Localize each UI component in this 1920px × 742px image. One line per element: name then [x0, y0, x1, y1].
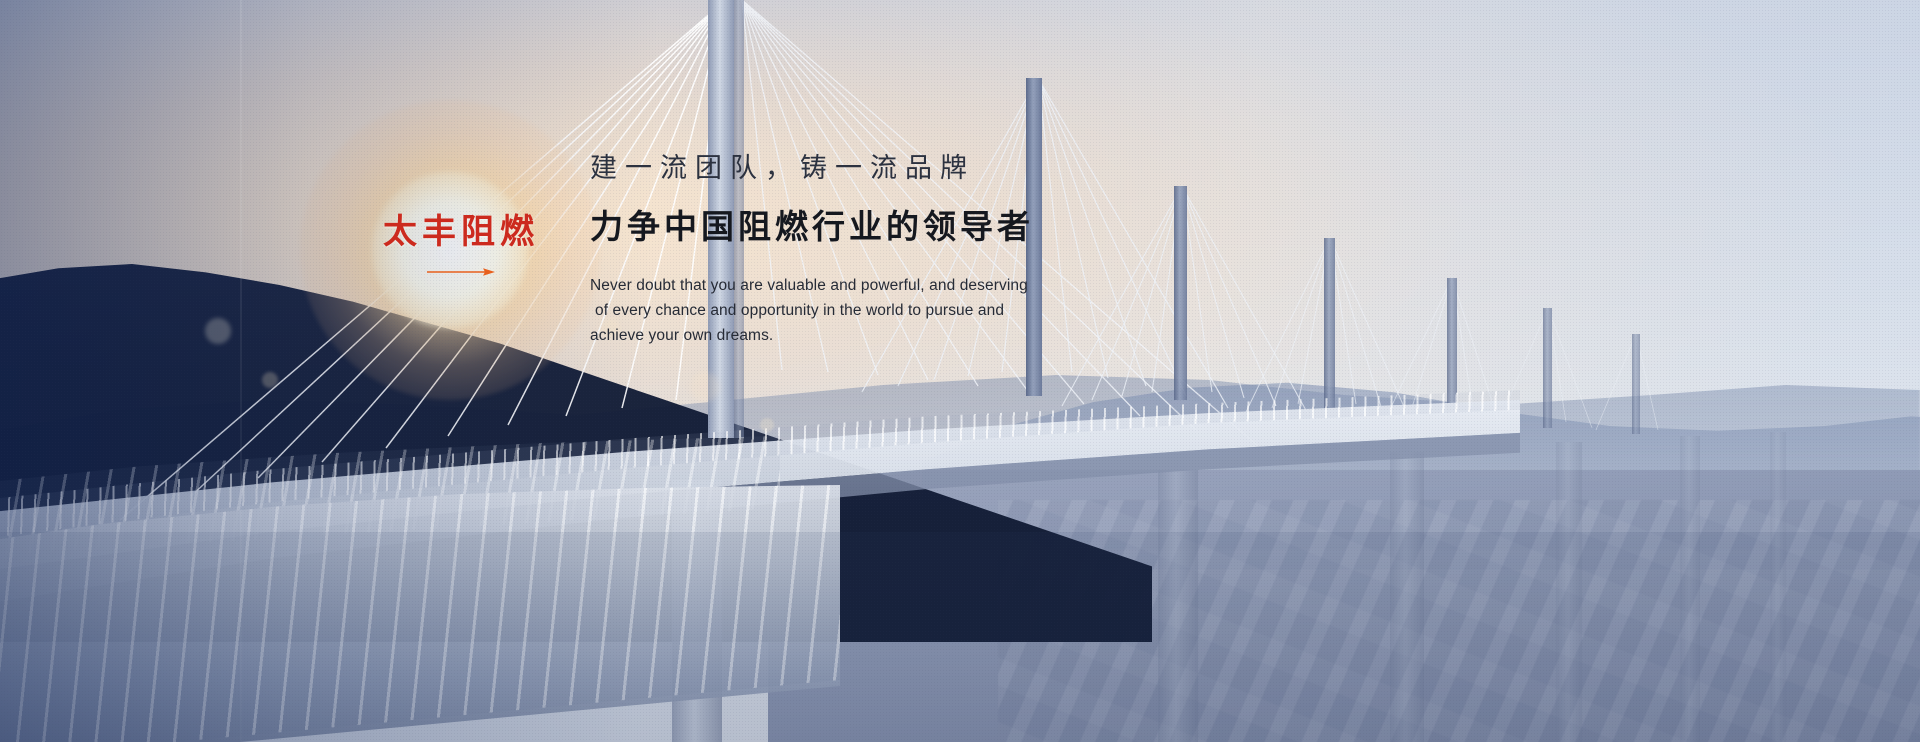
hero-banner: 太丰阻燃 建一流团队，铸一流品牌 力争中国阻燃行业的领导者 Never doub… — [0, 0, 1920, 742]
brand-logo-text: 太丰阻燃 — [376, 214, 546, 251]
subtext-line: of every chance and opportunity in the w… — [590, 298, 1050, 323]
brand-logo[interactable]: 太丰阻燃 — [376, 214, 546, 277]
right-arrow-icon — [427, 267, 495, 277]
headline-secondary: 力争中国阻燃行业的领导者 — [590, 206, 1150, 247]
subtext-line: Never doubt that you are valuable and po… — [590, 273, 1050, 298]
banner-subtext: Never doubt that you are valuable and po… — [590, 273, 1050, 348]
banner-text-block: 建一流团队，铸一流品牌 力争中国阻燃行业的领导者 Never doubt tha… — [590, 152, 1150, 348]
subtext-line: achieve your own dreams. — [590, 323, 1050, 348]
banner-content: 太丰阻燃 建一流团队，铸一流品牌 力争中国阻燃行业的领导者 Never doub… — [0, 0, 1920, 742]
headline-primary: 建一流团队，铸一流品牌 — [590, 152, 1150, 186]
